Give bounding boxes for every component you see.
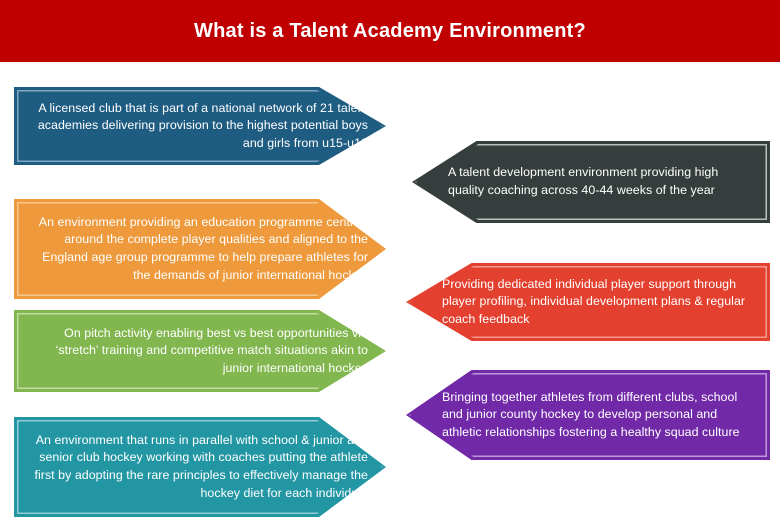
- info-arrow-text-blue: A licensed club that is part of a nation…: [28, 100, 372, 153]
- info-arrow-blue: A licensed club that is part of a nation…: [14, 87, 386, 165]
- info-arrow-text-green: On pitch activity enabling best vs best …: [28, 325, 372, 378]
- info-arrow-text-dark: A talent development environment providi…: [426, 164, 756, 199]
- info-arrow-green: On pitch activity enabling best vs best …: [14, 310, 386, 392]
- info-arrow-text-purple: Bringing together athletes from differen…: [420, 389, 756, 442]
- info-arrow-orange: An environment providing an education pr…: [14, 199, 386, 299]
- info-arrow-purple: Bringing together athletes from differen…: [406, 370, 770, 460]
- info-arrow-teal: An environment that runs in parallel wit…: [14, 417, 386, 517]
- info-arrow-text-orange: An environment providing an education pr…: [28, 214, 372, 284]
- info-arrow-red: Providing dedicated individual player su…: [406, 263, 770, 341]
- info-arrow-text-teal: An environment that runs in parallel wit…: [28, 432, 372, 502]
- info-arrow-dark: A talent development environment providi…: [412, 141, 770, 223]
- title-banner: What is a Talent Academy Environment?: [0, 0, 780, 62]
- info-arrow-text-red: Providing dedicated individual player su…: [420, 276, 756, 329]
- page-title: What is a Talent Academy Environment?: [194, 20, 586, 42]
- slide-canvas: What is a Talent Academy Environment? A …: [0, 0, 780, 531]
